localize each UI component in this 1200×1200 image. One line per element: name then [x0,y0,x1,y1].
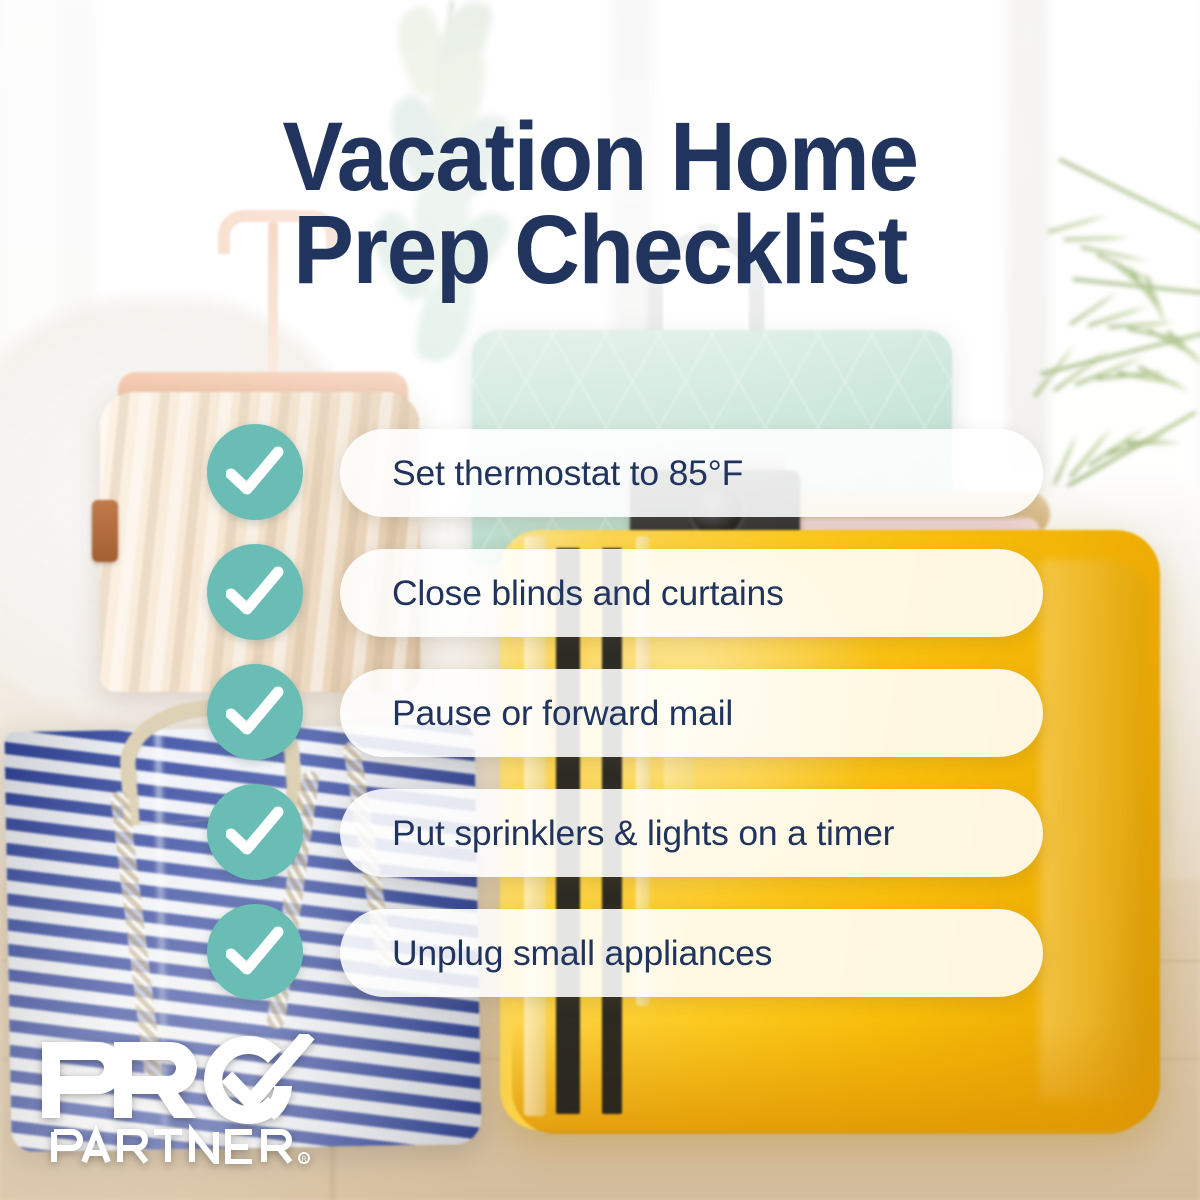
pro-partner-logo: R [36,1034,336,1164]
checklist-item[interactable]: Pause or forward mail [0,664,1200,784]
checklist-item[interactable]: Set thermostat to 85°F [0,424,1200,544]
checklist-item-label: Put sprinklers & lights on a timer [392,813,894,854]
check-icon [207,424,303,520]
checklist-item[interactable]: Close blinds and curtains [0,544,1200,664]
svg-text:R: R [301,1156,306,1163]
checklist-pill[interactable]: Pause or forward mail [340,669,1043,757]
page-title: Vacation Home Prep Checklist [36,110,1164,296]
check-icon [207,904,303,1000]
checklist-item-label: Close blinds and curtains [392,573,784,614]
checklist-item-label: Unplug small appliances [392,933,772,974]
checklist-pill[interactable]: Unplug small appliances [340,909,1043,997]
checklist-item-label: Set thermostat to 85°F [392,453,743,494]
checklist-item-label: Pause or forward mail [392,693,733,734]
vacation-home-prep-checklist-graphic: Vacation Home Prep Checklist Set thermos… [0,0,1200,1200]
checklist-pill[interactable]: Put sprinklers & lights on a timer [340,789,1043,877]
checklist-item[interactable]: Put sprinklers & lights on a timer [0,784,1200,904]
checklist-pill[interactable]: Close blinds and curtains [340,549,1043,637]
check-icon [207,784,303,880]
graphic-overlay: Vacation Home Prep Checklist Set thermos… [0,0,1200,1200]
checklist: Set thermostat to 85°F Close blinds and … [0,424,1200,1024]
check-icon [207,544,303,640]
checklist-item[interactable]: Unplug small appliances [0,904,1200,1024]
checklist-pill[interactable]: Set thermostat to 85°F [340,429,1043,517]
check-icon [207,664,303,760]
